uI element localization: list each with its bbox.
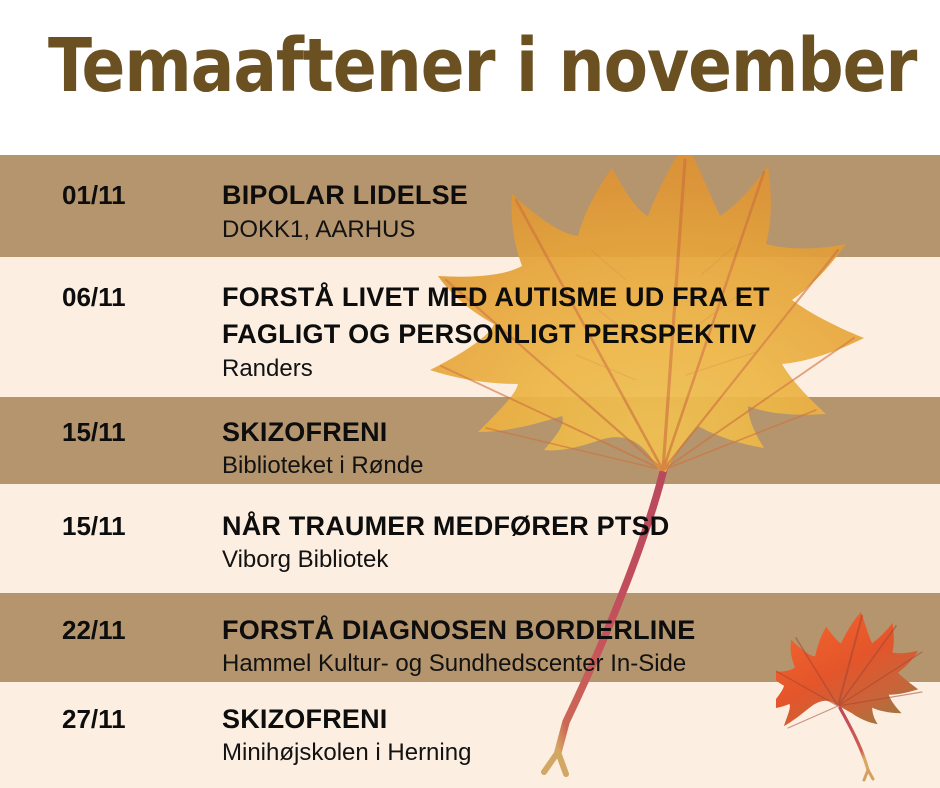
event-date: 06/11 [62, 282, 126, 313]
event-date: 15/11 [62, 417, 126, 448]
event-date: 22/11 [62, 615, 126, 646]
title-area: Temaaftener i november [0, 0, 940, 155]
event-venue: Biblioteket i Rønde [222, 452, 423, 480]
event-venue: Minihøjskolen i Herning [222, 739, 471, 767]
event-title: SKIZOFRENI [222, 701, 388, 738]
event-title: FORSTÅ LIVET MED AUTISME UD FRA ET FAGLI… [222, 279, 770, 353]
event-title: FORSTÅ DIAGNOSEN BORDERLINE [222, 612, 695, 649]
band-row-6 [0, 682, 940, 788]
event-title: NÅR TRAUMER MEDFØRER PTSD [222, 508, 670, 545]
band-row-1 [0, 155, 940, 257]
event-date: 15/11 [62, 511, 126, 542]
event-title: SKIZOFRENI [222, 414, 388, 451]
event-venue: Randers [222, 355, 313, 383]
event-venue: Viborg Bibliotek [222, 546, 388, 574]
event-date: 27/11 [62, 704, 126, 735]
poster-canvas: Temaaftener i november [0, 0, 940, 788]
event-venue: DOKK1, AARHUS [222, 216, 415, 244]
event-title: BIPOLAR LIDELSE [222, 177, 468, 214]
event-date: 01/11 [62, 180, 126, 211]
band-row-3 [0, 397, 940, 484]
page-title: Temaaftener i november [48, 28, 916, 106]
row-bands [0, 155, 940, 788]
event-venue: Hammel Kultur- og Sundhedscenter In-Side [222, 650, 686, 678]
